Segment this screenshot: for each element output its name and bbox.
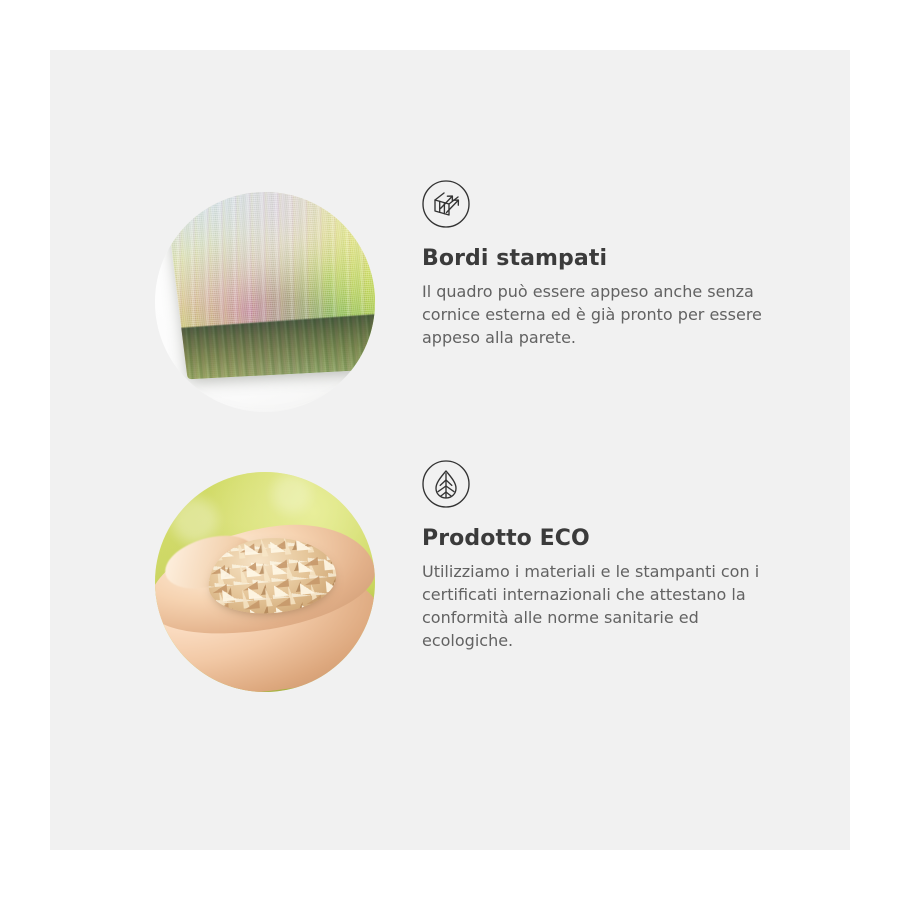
- feature-text-block: Bordi stampati Il quadro può essere appe…: [422, 180, 802, 349]
- canvas-photo-backdrop: [155, 192, 375, 412]
- wood-chip-texture: [205, 533, 339, 619]
- leaf-icon: [422, 460, 470, 508]
- feature-bordi-stampati: Bordi stampati Il quadro può essere appe…: [50, 180, 850, 440]
- feature-description: Il quadro può essere appeso anche senza …: [422, 280, 790, 349]
- feature-prodotto-eco: Prodotto ECO Utilizziamo i materiali e l…: [50, 460, 850, 720]
- eco-photo-backdrop: [155, 472, 375, 692]
- wood-chip-pile: [205, 533, 339, 619]
- content-panel: Bordi stampati Il quadro può essere appe…: [50, 50, 850, 850]
- canvas-block: [161, 192, 375, 379]
- feature-title: Bordi stampati: [422, 246, 802, 272]
- feature-text-block: Prodotto ECO Utilizziamo i materiali e l…: [422, 460, 802, 652]
- feature-description: Utilizziamo i materiali e le stampanti c…: [422, 560, 790, 652]
- product-feature-infographic: Bordi stampati Il quadro può essere appe…: [0, 0, 900, 900]
- feature-title: Prodotto ECO: [422, 526, 802, 552]
- printed-edges-icon: [422, 180, 470, 228]
- wood-chips-hands-photo: [155, 472, 375, 692]
- canvas-print-edge-photo: [155, 192, 375, 412]
